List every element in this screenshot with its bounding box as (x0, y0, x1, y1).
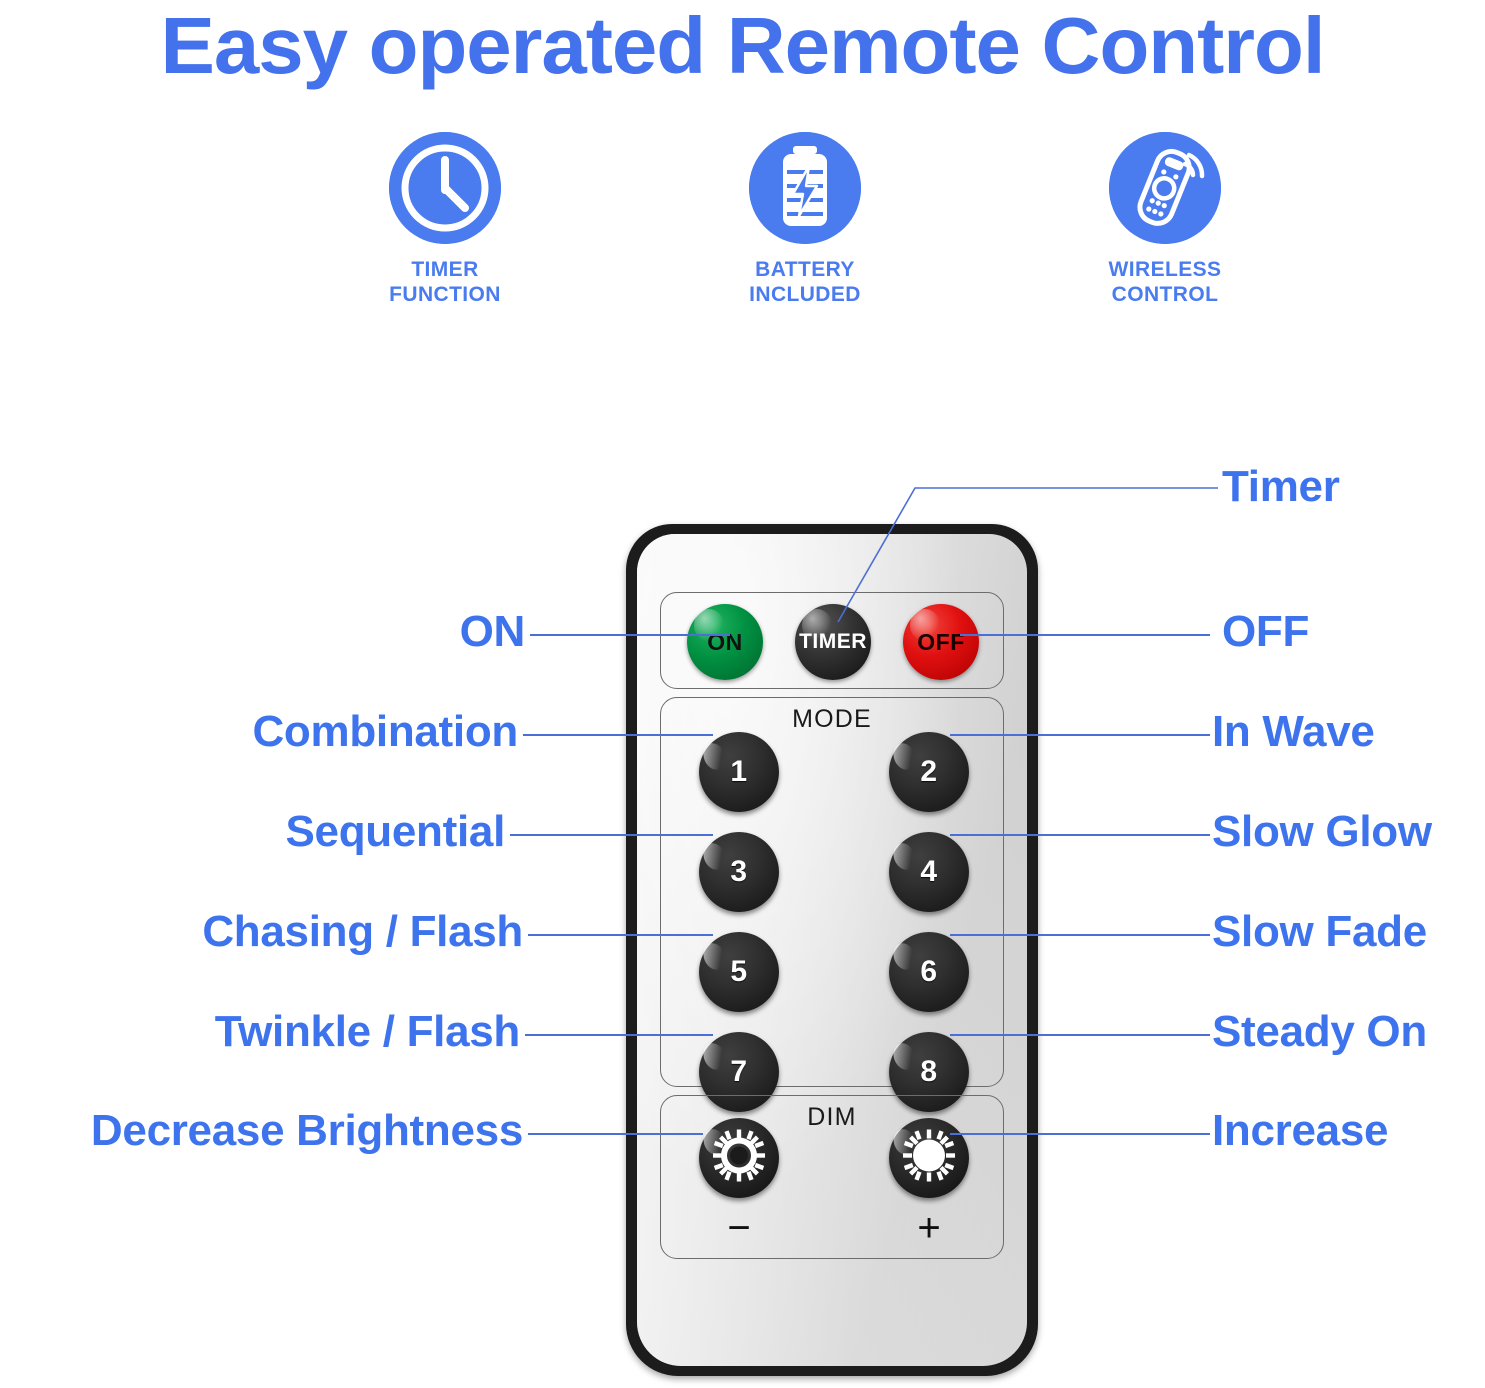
callout-on: ON (460, 607, 525, 657)
leader-line-slow-fade (950, 934, 1210, 936)
callout-sequential: Sequential (286, 807, 506, 857)
remote-icon (1109, 132, 1221, 244)
mode-group-title: MODE (661, 705, 1003, 734)
feature-badges: TIMER FUNCTION BATTERY INCLUDED (300, 132, 1310, 307)
callout-twinkle-flash: Twinkle / Flash (215, 1007, 520, 1057)
leader-line-steady-on (950, 1034, 1210, 1036)
mode-button-1[interactable]: 1 (699, 732, 779, 812)
callout-increase: Increase (1212, 1106, 1388, 1156)
brightness-high-icon (900, 1127, 958, 1190)
feature-timer-function: TIMER FUNCTION (300, 132, 590, 307)
mode-button-label: 1 (730, 755, 747, 789)
brightness-low-icon (710, 1127, 768, 1190)
mode-button-5[interactable]: 5 (699, 932, 779, 1012)
mode-button-3[interactable]: 3 (699, 832, 779, 912)
mode-button-2[interactable]: 2 (889, 732, 969, 812)
mode-button-6[interactable]: 6 (889, 932, 969, 1012)
leader-line-slow-glow (950, 834, 1210, 836)
leader-line-in-wave (950, 734, 1210, 736)
feature-wireless-control: WIRELESS CONTROL (1020, 132, 1310, 307)
callout-decrease-brightness: Decrease Brightness (91, 1106, 523, 1156)
feature-label: BATTERY INCLUDED (749, 257, 861, 307)
feature-label: TIMER FUNCTION (389, 257, 501, 307)
callout-timer: Timer (1222, 462, 1340, 512)
mode-button-label: 3 (730, 855, 747, 889)
callout-steady-on: Steady On (1212, 1007, 1427, 1057)
feature-label: WIRELESS CONTROL (1109, 257, 1222, 307)
mode-button-group: MODE 1 2 3 4 5 6 7 8 (660, 697, 1004, 1087)
leader-line-twinkle (525, 1034, 713, 1036)
callout-slow-glow: Slow Glow (1212, 807, 1432, 857)
leader-line-sequential (510, 834, 713, 836)
callout-chasing-flash: Chasing / Flash (202, 907, 523, 957)
leader-line-combination (523, 734, 713, 736)
leader-line-chasing (528, 934, 713, 936)
callout-off: OFF (1222, 607, 1309, 657)
dim-increase-button[interactable] (889, 1118, 969, 1198)
mode-button-label: 6 (920, 955, 937, 989)
callout-slow-fade: Slow Fade (1212, 907, 1427, 957)
mode-button-label: 8 (920, 1055, 937, 1089)
dim-button-group: DIM (660, 1095, 1004, 1259)
feature-battery-included: BATTERY INCLUDED (660, 132, 950, 307)
leader-line-decrease (528, 1133, 703, 1135)
remote-faceplate: ON TIMER OFF MODE 1 2 3 4 (637, 534, 1027, 1366)
callout-combination: Combination (252, 707, 518, 757)
mode-button-label: 7 (730, 1055, 747, 1089)
leader-line-timer (820, 470, 1220, 650)
clock-icon (389, 132, 501, 244)
on-button[interactable]: ON (687, 604, 763, 680)
mode-button-4[interactable]: 4 (889, 832, 969, 912)
leader-line-on (530, 634, 730, 636)
mode-button-label: 4 (920, 855, 937, 889)
mode-button-label: 2 (920, 755, 937, 789)
dim-increase-label: + (889, 1208, 969, 1248)
page-title: Easy operated Remote Control (0, 2, 1485, 90)
leader-line-increase (950, 1133, 1210, 1135)
dim-decrease-button[interactable] (699, 1118, 779, 1198)
on-button-label: ON (707, 629, 743, 656)
mode-button-label: 5 (730, 955, 747, 989)
dim-decrease-label: − (699, 1208, 779, 1248)
callout-in-wave: In Wave (1212, 707, 1375, 757)
battery-icon (749, 132, 861, 244)
remote-control-device: ON TIMER OFF MODE 1 2 3 4 (626, 524, 1038, 1376)
